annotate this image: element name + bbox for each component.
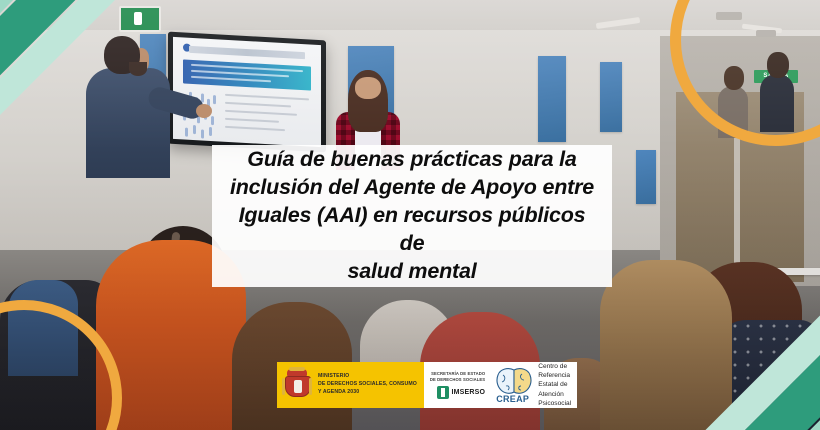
logo-bar: MINISTERIO DE DERECHOS SOCIALES, CONSUMO… bbox=[277, 362, 577, 408]
ministerio-line-1: MINISTERIO bbox=[318, 373, 417, 381]
title-band: Guía de buenas prácticas para la inclusi… bbox=[212, 145, 612, 287]
creap-line-3: Estatal de bbox=[538, 380, 571, 389]
page-title: Guía de buenas prácticas para la inclusi… bbox=[212, 146, 612, 286]
title-line-3: Iguales (AAI) en recursos públicos de bbox=[239, 203, 586, 255]
ministerio-logo: MINISTERIO DE DERECHOS SOCIALES, CONSUMO… bbox=[277, 362, 424, 408]
creap-line-1: Centro de bbox=[538, 362, 571, 371]
ministerio-logo-text: MINISTERIO DE DERECHOS SOCIALES, CONSUMO… bbox=[318, 373, 417, 396]
secretaria-estado-logo: SECRETARÍA DE ESTADO DE DERECHOS SOCIALE… bbox=[424, 362, 491, 408]
creap-line-2: Referencia bbox=[538, 371, 571, 380]
imserso-mark-icon bbox=[437, 386, 449, 399]
secretaria-line-2: DE DERECHOS SOCIALES bbox=[430, 377, 485, 383]
secretaria-logo-text: SECRETARÍA DE ESTADO DE DERECHOS SOCIALE… bbox=[430, 371, 485, 383]
creap-acronym: CREAP bbox=[496, 394, 529, 404]
brain-icon: CREAP bbox=[495, 367, 533, 403]
ministerio-line-2: DE DERECHOS SOCIALES, CONSUMO bbox=[318, 381, 417, 389]
title-line-1: Guía de buenas prácticas para la bbox=[247, 147, 576, 171]
imserso-logo: IMSERSO bbox=[430, 386, 485, 399]
ministerio-line-3: Y AGENDA 2030 bbox=[318, 389, 417, 397]
title-line-4: salud mental bbox=[347, 259, 476, 283]
creap-line-5: Psicosocial bbox=[538, 399, 571, 408]
spain-coat-of-arms-icon bbox=[282, 369, 312, 401]
poster-canvas: SALIDA bbox=[0, 0, 820, 430]
creap-logo: CREAP Centro de Referencia Estatal de At… bbox=[491, 362, 577, 408]
creap-line-4: Atención bbox=[538, 390, 571, 399]
creap-logo-text: Centro de Referencia Estatal de Atención… bbox=[538, 362, 571, 409]
imserso-label: IMSERSO bbox=[452, 389, 486, 396]
title-line-2: inclusión del Agente de Apoyo entre bbox=[230, 175, 594, 199]
